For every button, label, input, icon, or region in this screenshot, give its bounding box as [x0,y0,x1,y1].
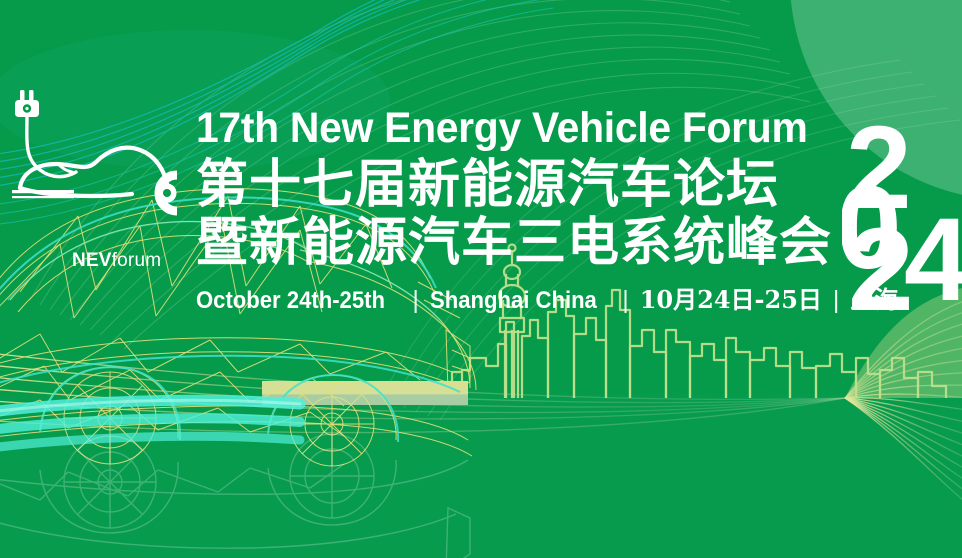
chinese-title-line-2: 暨新能源汽车三电系统峰会 [196,212,846,274]
logo-wordmark-forum: forum [112,250,162,271]
year-digit-2b: 2 [848,204,909,314]
logo-wordmark: NEVforum [72,250,161,272]
ev-car-plug-icon [4,72,194,222]
date-english: October 24th-25th [196,287,385,315]
separator-2: | [611,286,640,315]
year-digit-4: 4 [904,194,962,314]
date-chinese: 10月24日-25日 [640,280,822,315]
separator-1: | [401,286,430,315]
chinese-title-line-1: 第十七届新能源汽车论坛 [196,154,846,216]
event-poster: NEVforum 17th New Energy Vehicle Forum 第… [0,0,962,558]
nevforum-logo[interactable]: NEVforum [4,72,194,222]
location-english: Shanghai China [430,287,597,315]
logo-wordmark-nev: NEV [72,250,112,271]
english-title: 17th New Energy Vehicle Forum [196,104,814,152]
event-details-line: October 24th-25th | Shanghai China | 10月… [196,280,846,315]
year-badge-2024: 2 0 2 4 [842,104,962,314]
title-block: 17th New Energy Vehicle Forum 第十七届新能源汽车论… [196,104,846,315]
